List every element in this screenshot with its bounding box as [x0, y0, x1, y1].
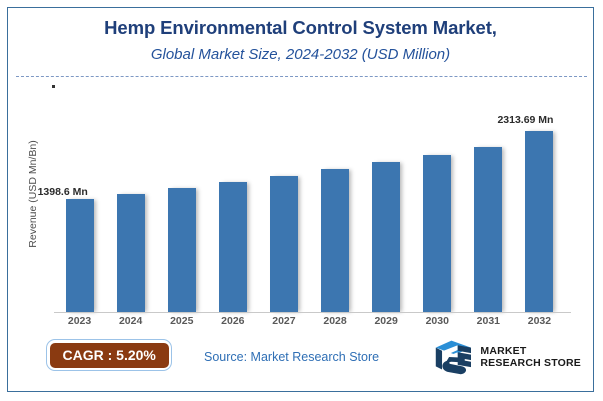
cagr-badge-wrapper: CAGR : 5.20% [46, 339, 172, 371]
x-tick-2030: 2030 [423, 315, 451, 327]
header-divider [16, 76, 587, 77]
bar-rect-2026 [219, 182, 247, 313]
bar-2027 [270, 84, 298, 313]
cagr-badge: CAGR : 5.20% [50, 343, 169, 368]
bar-2028 [321, 84, 349, 313]
bar-2029 [372, 84, 400, 313]
chart-footer: CAGR : 5.20% Source: Market Research Sto… [8, 333, 595, 391]
bar-rect-2024 [117, 194, 145, 313]
x-tick-2031: 2031 [474, 315, 502, 327]
x-tick-2027: 2027 [270, 315, 298, 327]
bar-rect-2032 [525, 131, 553, 313]
market-research-store-logo-icon [433, 339, 473, 375]
x-tick-2028: 2028 [321, 315, 349, 327]
source-note: Source: Market Research Store [204, 350, 379, 364]
bar-value-label-2032: 2313.69 Mn [497, 114, 553, 126]
logo-line-1: MARKET [480, 345, 581, 357]
bar-2026 [219, 84, 247, 313]
x-tick-2032: 2032 [525, 315, 553, 327]
page-subtitle: Global Market Size, 2024-2032 (USD Milli… [8, 46, 593, 63]
bar-2025 [168, 84, 196, 313]
bar-chart: Revenue (USD Mn/Bn) 1398.6 Mn2313.69 Mn … [8, 84, 595, 329]
bar-rect-2031 [474, 147, 502, 313]
bars-container: 1398.6 Mn2313.69 Mn [54, 84, 565, 313]
x-tick-2025: 2025 [168, 315, 196, 327]
x-tick-2024: 2024 [117, 315, 145, 327]
company-logo: MARKET RESEARCH STORE [433, 339, 581, 375]
bar-2024 [117, 84, 145, 313]
page-title: Hemp Environmental Control System Market… [8, 17, 593, 39]
bar-rect-2028 [321, 169, 349, 313]
logo-line-2: RESEARCH STORE [480, 357, 581, 369]
bar-rect-2029 [372, 162, 400, 313]
bar-rect-2027 [270, 176, 298, 313]
logo-wordmark: MARKET RESEARCH STORE [480, 345, 581, 369]
x-axis-line [54, 312, 571, 313]
bar-2023 [66, 84, 94, 313]
bar-value-label-2023: 1398.6 Mn [38, 186, 88, 198]
bar-2030 [423, 84, 451, 313]
bar-rect-2025 [168, 188, 196, 313]
chart-frame: Hemp Environmental Control System Market… [7, 7, 594, 392]
bar-rect-2030 [423, 155, 451, 313]
x-tick-2026: 2026 [219, 315, 247, 327]
x-axis-ticks: 2023202420252026202720282029203020312032 [54, 315, 565, 333]
x-tick-2023: 2023 [66, 315, 94, 327]
x-tick-2029: 2029 [372, 315, 400, 327]
bar-rect-2023 [66, 199, 94, 313]
